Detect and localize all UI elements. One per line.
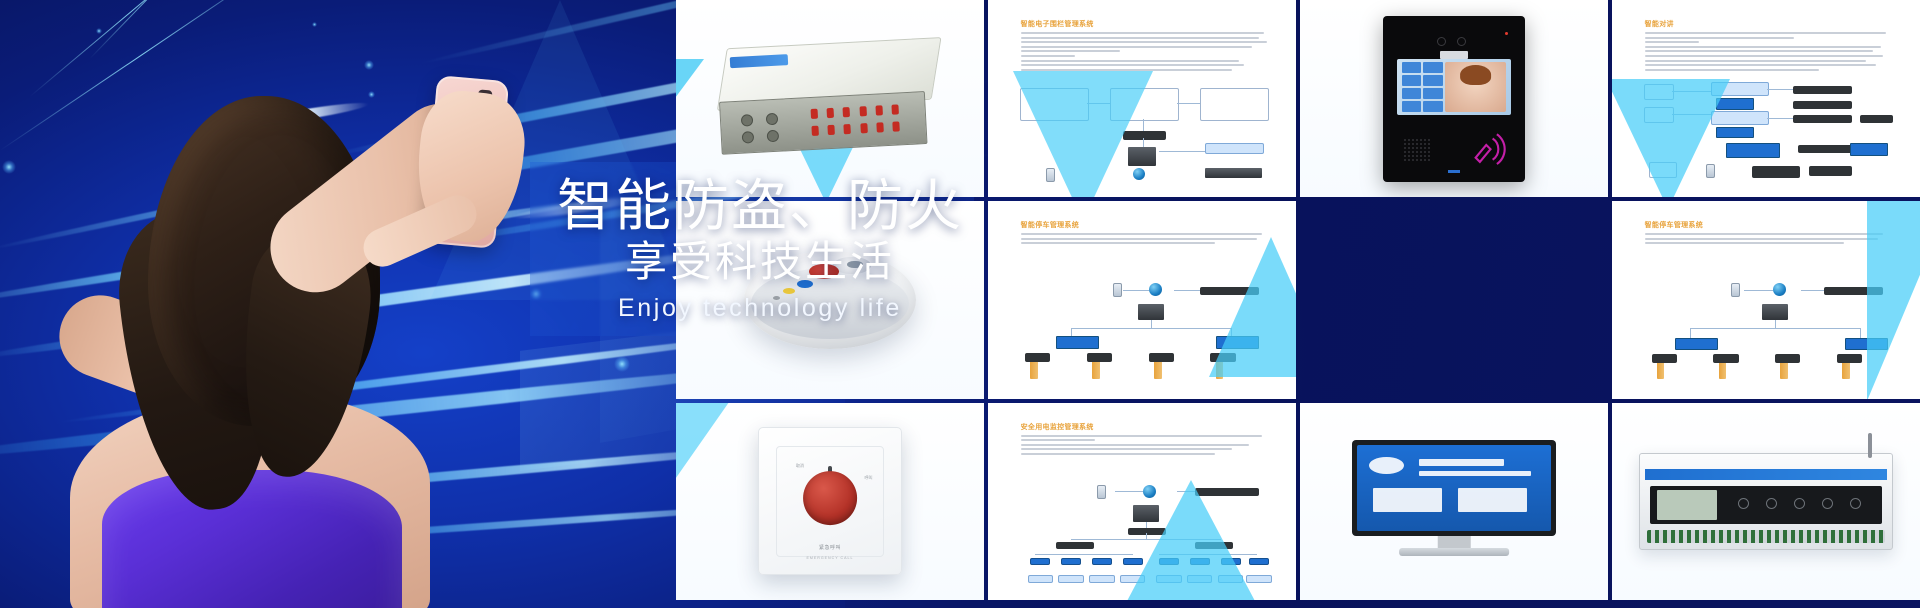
emergency-call-switch-photo: 取消 呼叫 紧急呼叫 EMERGENCY CALL — [758, 427, 902, 575]
doc-body-text — [1645, 233, 1894, 247]
system-diagram — [1639, 281, 1897, 383]
doc-title: 智能电子围栏管理系统 — [1021, 19, 1094, 29]
fence-controller-photo — [716, 38, 943, 160]
grid-cell-parking-system-diagram-doc[interactable]: 智能停车管理系统 — [1612, 201, 1920, 398]
grid-cell-emergency-call-switch[interactable]: 取消 呼叫 紧急呼叫 EMERGENCY CALL — [676, 403, 984, 600]
rfid-wave-icon — [1465, 132, 1508, 168]
promo-banner: 智能电子围栏管理系统 — [0, 0, 1920, 608]
grid-cell-parking-management-system-doc[interactable]: 智能停车管理系统 — [988, 201, 1296, 398]
grid-cell-desktop-monitor-workstation[interactable] — [1300, 403, 1608, 600]
grid-cell-electronic-fence-system-doc[interactable]: 智能电子围栏管理系统 — [988, 0, 1296, 197]
switch-sub-label: EMERGENCY CALL — [759, 556, 901, 560]
switch-label: 紧急呼叫 — [759, 544, 901, 551]
doc-title: 智能对讲 — [1645, 19, 1674, 29]
grid-cell-smart-electronic-fence-controller[interactable] — [676, 0, 984, 197]
page-subtitle: 享受科技生活 — [530, 237, 990, 287]
intercom-panel-photo — [1383, 16, 1525, 182]
page-tagline: Enjoy technology life — [530, 294, 990, 323]
grid-cell-video-intercom-panel[interactable] — [1300, 0, 1608, 197]
monitor-photo — [1352, 440, 1555, 562]
grid-cell-smart-intercom-system-doc[interactable]: 智能对讲 — [1612, 0, 1920, 197]
grid-cell-headline-overlay-area — [1300, 201, 1608, 398]
doc-title: 智能停车管理系统 — [1021, 220, 1079, 230]
doc-title: 智能停车管理系统 — [1645, 220, 1703, 230]
headline-copy-block: 智能防盗、防火 享受科技生活 Enjoy technology life — [530, 176, 990, 323]
lighting-controller-photo — [1639, 453, 1894, 550]
grid-cell-intelligent-lighting-controller[interactable] — [1612, 403, 1920, 600]
doc-body-text — [1021, 32, 1270, 73]
doc-body-text — [1645, 32, 1894, 73]
page-title: 智能防盗、防火 — [530, 176, 990, 235]
doc-title: 安全用电监控管理系统 — [1021, 422, 1094, 432]
grid-cell-safe-electricity-monitor-doc[interactable]: 安全用电监控管理系统 — [988, 403, 1296, 600]
doc-body-text — [1021, 435, 1270, 458]
